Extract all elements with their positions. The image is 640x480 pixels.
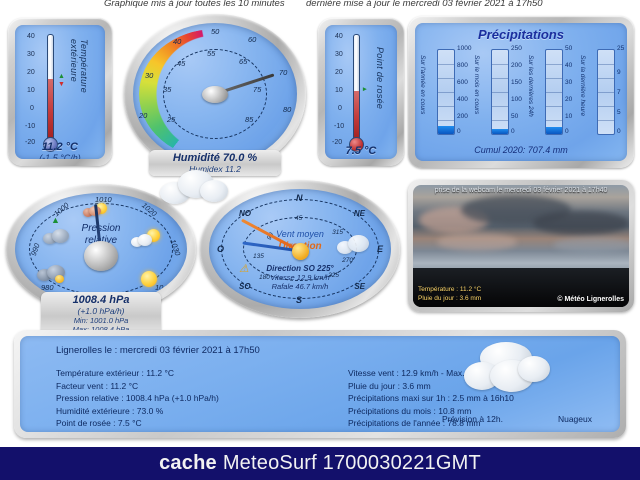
weather-dashboard: Graphique mis à jour toutes les 10 minut… bbox=[0, 0, 640, 480]
temp-tick-m10: -10 bbox=[25, 123, 35, 130]
dew-tick-40: 40 bbox=[335, 33, 343, 40]
wind-cloud-icon bbox=[337, 235, 371, 255]
footer-text: MeteoSurf 1700030221GMT bbox=[223, 452, 481, 475]
hum-tick-60: 60 bbox=[248, 35, 256, 44]
wind-deg-45: 45 bbox=[295, 215, 302, 222]
summary-dewpoint-line: Point de rosée : 7.5 °C bbox=[56, 417, 219, 430]
precip-bar-year: Sur l'année en cours 1000 800 600 400 20… bbox=[423, 49, 469, 143]
compass-n: N bbox=[296, 193, 303, 203]
webcam-panel: prise de la webcam le mercredi 03 févrie… bbox=[408, 180, 634, 312]
webcam-caption: prise de la webcam le mercredi 03 févrie… bbox=[413, 187, 629, 194]
precip-bar-month-fill bbox=[492, 129, 508, 134]
dewpoint-panel: Point de rosée 40 30 20 10 0 -10 -20 ▸ 7… bbox=[318, 18, 404, 166]
temperature-title: Température extérieure bbox=[69, 39, 89, 135]
forecast-cloud-icon bbox=[464, 342, 550, 394]
summary-humidity-line: Humidité extérieure : 73.0 % bbox=[56, 405, 219, 418]
humidity-gauge: 50 40 60 30 70 20 80 90 100 55 45 65 35 … bbox=[124, 14, 306, 174]
precip-month-tick-0: 0 bbox=[511, 128, 515, 135]
summary-left-column: Température extérieur : 11.2 °C Facteur … bbox=[56, 367, 219, 432]
pressure-dial: 1010 1000 1020 990 1030 980 1040 Pressio… bbox=[15, 193, 187, 305]
precip-month-tick-50: 50 bbox=[511, 113, 518, 120]
hum-tick-30: 30 bbox=[145, 71, 153, 80]
precip-hour-tick-7: 7 bbox=[617, 89, 621, 96]
dewpoint-marker: ▸ bbox=[363, 85, 367, 93]
hum-tick-50: 50 bbox=[211, 27, 219, 36]
precip-bar-hour-tube bbox=[597, 49, 615, 135]
wind-direction-text: Direction SO 225° bbox=[209, 264, 391, 273]
precip-bar-24h: Sur les dernières 24h 50 40 30 20 10 0 3… bbox=[531, 49, 577, 143]
hum-inner-85: 85 bbox=[245, 115, 253, 124]
hum-tick-40: 40 bbox=[173, 37, 181, 46]
pressure-value: 1008.4 hPa bbox=[47, 294, 155, 306]
humidity-dial: 50 40 60 30 70 20 80 90 100 55 45 65 35 … bbox=[133, 23, 297, 165]
hum-tick-20: 20 bbox=[139, 111, 147, 120]
last-update-note: dernière mise à jour le mercredi 03 févr… bbox=[306, 0, 543, 9]
precip-bar-hour-label: Sur la dernière heure bbox=[579, 55, 586, 133]
wind-gust-text: Rafale 46.7 km/h bbox=[209, 282, 391, 291]
precip-month-tick-250: 250 bbox=[511, 45, 522, 52]
temp-tick-30: 30 bbox=[27, 51, 35, 58]
pressure-min: Min: 1001.0 hPa bbox=[47, 316, 155, 325]
summary-humidex-line: Facteur humidex : 11.2 bbox=[56, 430, 219, 432]
temperature-face: Température extérieure 40 30 20 10 0 -10… bbox=[15, 25, 105, 159]
precip-24h-tick-20: 20 bbox=[565, 96, 572, 103]
hum-tick-80: 80 bbox=[283, 105, 291, 114]
wind-deg-135: 135 bbox=[253, 253, 264, 260]
dewpoint-mercury bbox=[354, 91, 359, 139]
wind-gauge: N S O E NO NE SO SE 45 90 135 180 225 27… bbox=[200, 180, 400, 318]
hum-tick-70: 70 bbox=[279, 68, 287, 77]
wind-deg-270: 270 bbox=[342, 257, 353, 264]
precip-month-tick-150: 150 bbox=[511, 79, 522, 86]
precip-bar-year-tube bbox=[437, 49, 455, 135]
precip-bar-24h-fill bbox=[546, 127, 562, 134]
forecast-condition: Nuageux bbox=[558, 414, 592, 424]
precip-year-tick-800: 800 bbox=[457, 62, 468, 69]
temperature-panel: Température extérieure 40 30 20 10 0 -10… bbox=[8, 18, 112, 166]
temperature-mercury bbox=[48, 79, 53, 139]
precipitation-panel: Précipitations Sur l'année en cours 1000… bbox=[408, 16, 634, 168]
temperature-max-marker: ▲ bbox=[58, 73, 65, 80]
webcam-credit: © Météo Lignerolles bbox=[557, 296, 624, 303]
hum-tick-90: 90 bbox=[147, 141, 155, 150]
temperature-trend: (-1.5 °C/h) bbox=[15, 153, 105, 159]
precip-hour-tick-9: 9 bbox=[617, 69, 621, 76]
dew-tick-10: 10 bbox=[335, 87, 343, 94]
precip-hour-tick-0: 0 bbox=[617, 128, 621, 135]
dew-tick-m10: -10 bbox=[334, 123, 344, 130]
summary-heading: Lignerolles le : mercredi 03 février 202… bbox=[56, 345, 260, 356]
precip-24h-tick-50: 50 bbox=[565, 45, 572, 52]
dew-tick-20: 20 bbox=[335, 69, 343, 76]
pressure-trend: (+1.0 hPa/h) bbox=[47, 306, 155, 316]
webcam-image: prise de la webcam le mercredi 03 févrie… bbox=[413, 185, 629, 307]
webcam-overlay-data: Température : 11.2 °C Pluie du jour : 3.… bbox=[418, 286, 481, 304]
summary-rain-max1h-line: Précipitations maxi sur 1h : 2.5 mm à 16… bbox=[348, 392, 543, 405]
hum-inner-45: 45 bbox=[177, 59, 185, 68]
wind-speed-text: Vitesse 12.9 km/h bbox=[209, 273, 391, 282]
dewpoint-face: Point de rosée 40 30 20 10 0 -10 -20 ▸ 7… bbox=[325, 25, 397, 159]
precip-month-tick-200: 200 bbox=[511, 62, 522, 69]
sun-icon bbox=[139, 269, 159, 289]
webcam-rain-line: Pluie du jour : 3.6 mm bbox=[418, 295, 481, 304]
sun-cloud-icon bbox=[131, 229, 161, 247]
graph-update-note: Graphique mis à jour toutes les 10 minut… bbox=[104, 0, 285, 9]
summary-temp-line: Température extérieur : 11.2 °C bbox=[56, 367, 219, 380]
temperature-min-marker: ▼ bbox=[58, 81, 65, 88]
compass-s: S bbox=[296, 295, 302, 305]
precip-bar-24h-tube bbox=[545, 49, 563, 135]
precip-bar-month: Sur le mois en cours 250 200 150 100 50 … bbox=[477, 49, 523, 143]
precip-year-tick-200: 200 bbox=[457, 113, 468, 120]
precip-24h-tick-0: 0 bbox=[565, 128, 569, 135]
precip-hour-tick-5: 5 bbox=[617, 109, 621, 116]
dewpoint-value: 7.5 °C bbox=[325, 145, 397, 157]
precip-month-tick-100: 100 bbox=[511, 96, 522, 103]
dewpoint-title: Point de rosée bbox=[375, 47, 385, 125]
hum-inner-75: 75 bbox=[253, 85, 261, 94]
precipitation-cumul: Cumul 2020: 707.4 mm bbox=[415, 145, 627, 155]
dewpoint-tube bbox=[353, 34, 360, 140]
pressure-trend-marker: ▲ bbox=[51, 215, 60, 225]
precip-year-tick-600: 600 bbox=[457, 79, 468, 86]
hum-inner-25: 25 bbox=[167, 115, 175, 124]
summary-panel: Lignerolles le : mercredi 03 février 202… bbox=[14, 330, 626, 438]
precip-bar-year-label: Sur l'année en cours bbox=[419, 55, 426, 133]
footer-bar: cache MeteoSurf 1700030221GMT bbox=[0, 447, 640, 480]
precip-bar-month-label: Sur le mois en cours bbox=[473, 55, 480, 133]
compass-no: NO bbox=[239, 209, 251, 218]
precip-bar-month-tube bbox=[491, 49, 509, 135]
summary-windchill-line: Facteur vent : 11.2 °C bbox=[56, 380, 219, 393]
pressure-tick-980: 980 bbox=[41, 283, 54, 292]
precipitation-face: Précipitations Sur l'année en cours 1000… bbox=[415, 23, 627, 161]
precip-bar-hour: Sur la dernière heure 25 9 7 5 0 0.0 mm bbox=[583, 49, 627, 143]
compass-ne: NE bbox=[354, 209, 365, 218]
temp-tick-0: 0 bbox=[30, 105, 34, 112]
forecast-label: Prévision à 12h. bbox=[442, 414, 503, 424]
temp-tick-40: 40 bbox=[27, 33, 35, 40]
summary-pressure-line: Pression relative : 1008.4 hPa (+1.0 hPa… bbox=[56, 392, 219, 405]
wind-readout: Direction SO 225° Vitesse 12.9 km/h Rafa… bbox=[209, 264, 391, 291]
precip-year-tick-400: 400 bbox=[457, 96, 468, 103]
temperature-value: 11.2 °C bbox=[15, 141, 105, 153]
pressure-hub bbox=[84, 241, 118, 271]
hum-inner-35: 35 bbox=[163, 85, 171, 94]
humidity-value: Humidité 70.0 % bbox=[157, 152, 273, 164]
precipitation-title: Précipitations bbox=[415, 27, 627, 42]
footer-prefix: cache bbox=[159, 452, 217, 475]
rain-cloud-icon bbox=[43, 229, 71, 245]
humidity-hub bbox=[202, 86, 228, 103]
temperature-tube bbox=[47, 34, 54, 140]
precip-bar-24h-label: Sur les dernières 24h bbox=[527, 55, 534, 133]
precip-24h-tick-30: 30 bbox=[565, 79, 572, 86]
dew-tick-30: 30 bbox=[335, 51, 343, 58]
pressure-title-line1: Pression bbox=[15, 223, 187, 234]
dew-tick-0: 0 bbox=[338, 105, 342, 112]
hum-inner-65: 65 bbox=[239, 57, 247, 66]
webcam-temp-line: Température : 11.2 °C bbox=[418, 286, 481, 295]
precip-year-tick-0: 0 bbox=[457, 128, 461, 135]
precip-24h-tick-10: 10 bbox=[565, 113, 572, 120]
temp-tick-20: 20 bbox=[27, 69, 35, 76]
precip-bar-year-fill bbox=[438, 126, 454, 134]
precip-24h-tick-40: 40 bbox=[565, 62, 572, 69]
temp-tick-10: 10 bbox=[27, 87, 35, 94]
hum-tick-100: 100 bbox=[276, 139, 289, 148]
summary-face: Lignerolles le : mercredi 03 février 202… bbox=[20, 336, 620, 432]
wind-dial: N S O E NO NE SO SE 45 90 135 180 225 27… bbox=[209, 189, 391, 309]
storm-cloud-icon bbox=[37, 265, 67, 283]
decorative-cloud-icon bbox=[160, 170, 228, 204]
precip-year-tick-1000: 1000 bbox=[457, 45, 471, 52]
precip-hour-tick-25: 25 bbox=[617, 45, 624, 52]
hum-inner-55: 55 bbox=[207, 49, 215, 58]
